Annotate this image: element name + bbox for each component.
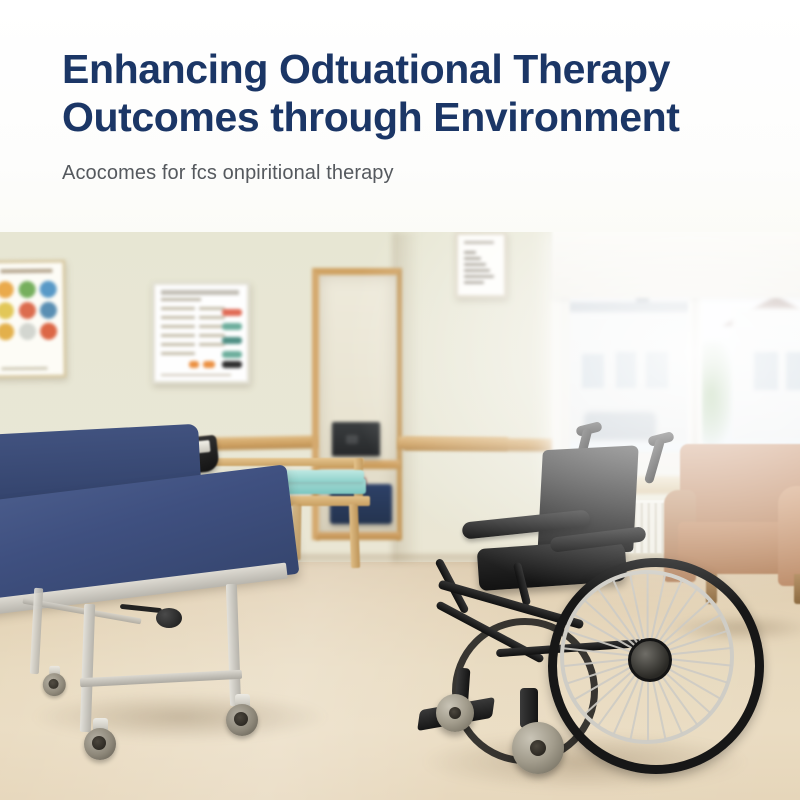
wall-poster-chart [152,282,250,384]
wheelchair-hub [628,638,672,682]
small-poster-title [464,241,494,244]
poster-dot-blue [40,281,57,298]
poster-dot-grey [19,323,36,340]
poster-dot-yellow [0,302,14,319]
sofa-leg-right [794,574,800,604]
bench-leg-right [349,504,360,568]
chart-chip-orange-2 [189,361,199,368]
poster-dot-steel [40,302,57,319]
chart-poster-note [161,374,231,376]
caster-hub [49,679,59,689]
outside-window-5 [786,352,800,390]
outside-window-4 [754,352,778,390]
sofa-arm-right [778,486,800,586]
small-poster-bar-6 [464,281,484,284]
poster-dot-green [18,281,35,298]
wall-poster-small [455,232,507,298]
chart-chip-orange [203,361,215,368]
small-poster-bar-2 [464,257,481,260]
chart-chip-red [222,309,242,316]
slide-root: Enhancing Odtuational Therapy Outcomes t… [0,0,800,800]
outside-window-3 [646,352,668,388]
outside-window-2 [616,352,636,388]
table-caster-rear [43,666,67,696]
chart-chip-green-2 [222,351,242,358]
table-caster-right [226,694,260,736]
poster-circle-grid [0,281,59,341]
chart-chip-green [222,323,242,330]
caster-hub [234,712,248,726]
chart-poster-column-left [161,307,195,361]
small-poster-bar-4 [464,269,490,272]
poster-heading-bar [0,269,52,274]
page-title: Enhancing Odtuational Therapy Outcomes t… [62,46,738,142]
poster-dot-red [18,302,35,319]
table-caster-left [84,718,118,760]
small-poster-bar-1 [464,251,476,254]
table-leg-front-right [226,584,241,706]
poster-dot-orange [0,281,14,298]
small-poster-bar-5 [464,275,494,278]
table-adjust-stem [120,604,162,613]
page-title-line-2: Outcomes through Environment [62,94,738,142]
table-adjust-knob [156,608,182,628]
wall-poster-circles [0,260,67,379]
page-subtitle: Acocomes for fcs onpiritional therapy [62,160,738,186]
wheelchair [400,432,730,792]
poster-dot-amber [0,323,14,340]
table-cross-brace-lower [80,670,242,687]
chart-chip-teal [222,337,242,344]
window-roller-blind [552,232,800,298]
wheelchair-caster-rear [436,694,474,732]
wheelchair-push-handle-right [644,438,665,485]
outside-window-1 [582,354,604,388]
chart-poster-subtitle [161,298,201,301]
header-band: Enhancing Odtuational Therapy Outcomes t… [0,0,800,232]
treatment-table [0,412,330,772]
page-title-line-1: Enhancing Odtuational Therapy [62,46,738,94]
hero-photo [0,232,800,800]
chart-poster-title [161,290,239,295]
wheelchair-caster-front [512,722,564,774]
poster-footer-bar [2,367,48,370]
table-leg-front-left [80,604,95,732]
small-poster-bar-3 [464,263,486,266]
poster-dot-coral [40,323,57,340]
chart-poster-column-mid [199,307,225,352]
chart-chip-dark [222,361,242,368]
caster-hub [92,736,106,750]
